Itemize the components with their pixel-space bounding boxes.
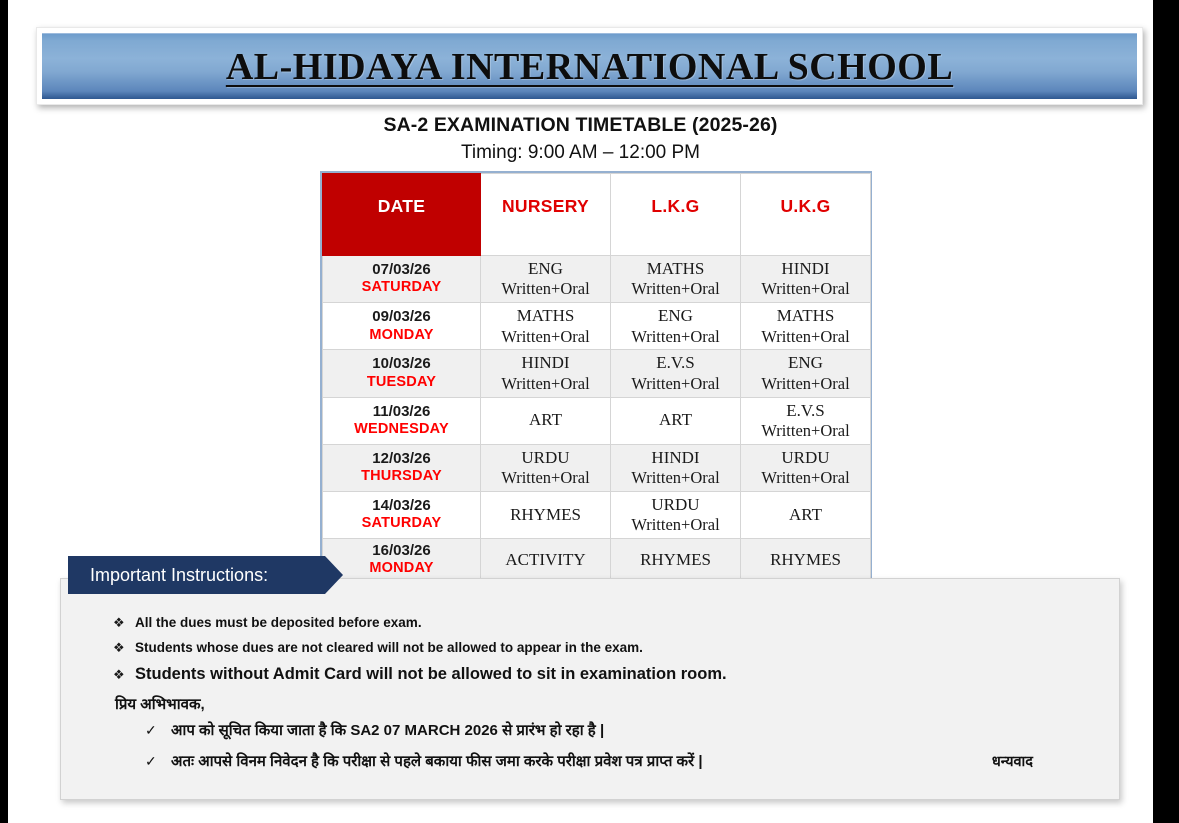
timetable-subject-cell-lkg: MATHSWritten+Oral — [611, 256, 741, 303]
timetable-subject-cell-ukg: ENGWritten+Oral — [741, 350, 871, 397]
timetable-subject-cell-lkg: ART — [611, 397, 741, 444]
timetable-row: 14/03/26SATURDAYRHYMESURDUWritten+OralAR… — [323, 491, 871, 538]
exam-date: 14/03/26 — [323, 497, 480, 515]
subject-name: RHYMES — [741, 550, 870, 570]
hindi-check-list: ✓आप को सूचित किया जाता है कि SA2 07 MARC… — [87, 720, 1093, 771]
timetable-subject-cell-ukg: RHYMES — [741, 539, 871, 582]
exam-day: TUESDAY — [323, 374, 480, 392]
subject-name: ENG — [481, 259, 610, 279]
instruction-text: Students without Admit Card will not be … — [135, 665, 727, 684]
column-header-nursery: NURSERY — [481, 174, 611, 256]
exam-date: 12/03/26 — [323, 450, 480, 468]
timetable-subject-cell-nursery: ART — [481, 397, 611, 444]
subject-mode: Written+Oral — [741, 468, 870, 488]
important-instructions-tab: Important Instructions: — [68, 556, 343, 594]
subject-name: ACTIVITY — [481, 550, 610, 570]
exam-date: 07/03/26 — [323, 261, 480, 279]
subject-name: HINDI — [741, 259, 870, 279]
timetable-subject-cell-nursery: RHYMES — [481, 491, 611, 538]
timetable-subject-cell-lkg: E.V.SWritten+Oral — [611, 350, 741, 397]
diamond-bullet-icon: ❖ — [113, 640, 135, 656]
subject-name: RHYMES — [481, 505, 610, 525]
timetable: DATE NURSERY L.K.G U.K.G 07/03/26SATURDA… — [320, 171, 872, 584]
exam-timing: Timing: 9:00 AM – 12:00 PM — [8, 139, 1153, 167]
subject-name: URDU — [481, 448, 610, 468]
timetable-subject-cell-lkg: RHYMES — [611, 539, 741, 582]
timetable-row: 10/03/26TUESDAYHINDIWritten+OralE.V.SWri… — [323, 350, 871, 397]
diamond-bullet-icon: ❖ — [113, 667, 135, 683]
subject-mode: Written+Oral — [741, 374, 870, 394]
instructions-bullet-list: ❖All the dues must be deposited before e… — [87, 615, 1093, 684]
exam-day: MONDAY — [323, 327, 480, 345]
exam-day: SATURDAY — [323, 279, 480, 297]
instruction-item: ❖All the dues must be deposited before e… — [113, 615, 1093, 631]
exam-day: SATURDAY — [323, 515, 480, 533]
timetable-body: 07/03/26SATURDAYENGWritten+OralMATHSWrit… — [323, 256, 871, 582]
subject-mode: Written+Oral — [741, 279, 870, 299]
banner-gradient: AL-HIDAYA INTERNATIONAL SCHOOL — [42, 33, 1137, 99]
timetable-subject-cell-nursery: HINDIWritten+Oral — [481, 350, 611, 397]
subject-name: ENG — [741, 353, 870, 373]
exam-date: 11/03/26 — [323, 403, 480, 421]
hindi-instruction-item: ✓अतः आपसे विनम निवेदन है कि परीक्षा से प… — [145, 751, 1093, 771]
subject-name: HINDI — [611, 448, 740, 468]
subject-name: MATHS — [611, 259, 740, 279]
timetable-subject-cell-ukg: URDUWritten+Oral — [741, 444, 871, 491]
timetable-row: 16/03/26MONDAYACTIVITYRHYMESRHYMES — [323, 539, 871, 582]
column-header-lkg: L.K.G — [611, 174, 741, 256]
timetable-subject-cell-lkg: URDUWritten+Oral — [611, 491, 741, 538]
subject-mode: Written+Oral — [481, 327, 610, 347]
important-instructions-label: Important Instructions: — [90, 565, 268, 586]
instruction-text: Students whose dues are not cleared will… — [135, 640, 643, 655]
subject-mode: Written+Oral — [611, 468, 740, 488]
subject-name: E.V.S — [741, 401, 870, 421]
exam-subtitle-group: SA-2 EXAMINATION TIMETABLE (2025-26) Tim… — [8, 112, 1153, 167]
timetable-date-cell: 09/03/26MONDAY — [323, 303, 481, 350]
timetable-subject-cell-lkg: ENGWritten+Oral — [611, 303, 741, 350]
subject-name: ART — [611, 410, 740, 430]
timetable-date-cell: 07/03/26SATURDAY — [323, 256, 481, 303]
timetable-date-cell: 10/03/26TUESDAY — [323, 350, 481, 397]
subject-name: E.V.S — [611, 353, 740, 373]
school-title-banner: AL-HIDAYA INTERNATIONAL SCHOOL — [36, 27, 1143, 105]
page-edge-left — [0, 0, 8, 823]
instruction-item: ❖Students whose dues are not cleared wil… — [113, 640, 1093, 656]
exam-title: SA-2 EXAMINATION TIMETABLE (2025-26) — [8, 112, 1153, 138]
timetable-date-cell: 16/03/26MONDAY — [323, 539, 481, 582]
timetable-row: 11/03/26WEDNESDAYARTARTE.V.SWritten+Oral — [323, 397, 871, 444]
subject-mode: Written+Oral — [481, 279, 610, 299]
subject-name: ART — [741, 505, 870, 525]
check-bullet-icon: ✓ — [145, 753, 171, 770]
timetable-row: 12/03/26THURSDAYURDUWritten+OralHINDIWri… — [323, 444, 871, 491]
check-bullet-icon: ✓ — [145, 722, 171, 739]
timetable-subject-cell-ukg: ART — [741, 491, 871, 538]
subject-mode: Written+Oral — [611, 327, 740, 347]
subject-mode: Written+Oral — [611, 374, 740, 394]
column-header-date: DATE — [323, 174, 481, 256]
subject-name: URDU — [741, 448, 870, 468]
timetable-subject-cell-nursery: URDUWritten+Oral — [481, 444, 611, 491]
diamond-bullet-icon: ❖ — [113, 615, 135, 631]
subject-name: MATHS — [481, 306, 610, 326]
timetable-date-cell: 14/03/26SATURDAY — [323, 491, 481, 538]
subject-mode: Written+Oral — [611, 515, 740, 535]
page-edge-right — [1153, 0, 1179, 823]
timetable-subject-cell-nursery: MATHSWritten+Oral — [481, 303, 611, 350]
exam-date: 10/03/26 — [323, 355, 480, 373]
instructions-panel: ❖All the dues must be deposited before e… — [60, 578, 1120, 800]
subject-name: HINDI — [481, 353, 610, 373]
notice-page: AL-HIDAYA INTERNATIONAL SCHOOL SA-2 EXAM… — [8, 0, 1153, 823]
timetable-header-row: DATE NURSERY L.K.G U.K.G — [323, 174, 871, 256]
subject-name: URDU — [611, 495, 740, 515]
subject-name: ART — [481, 410, 610, 430]
hindi-instruction-item: ✓आप को सूचित किया जाता है कि SA2 07 MARC… — [145, 720, 1093, 740]
timetable-subject-cell-ukg: HINDIWritten+Oral — [741, 256, 871, 303]
hindi-greeting: प्रिय अभिभावक, — [115, 694, 1093, 714]
subject-mode: Written+Oral — [741, 421, 870, 441]
subject-mode: Written+Oral — [741, 327, 870, 347]
timetable-subject-cell-nursery: ACTIVITY — [481, 539, 611, 582]
subject-name: ENG — [611, 306, 740, 326]
timetable-row: 09/03/26MONDAYMATHSWritten+OralENGWritte… — [323, 303, 871, 350]
hindi-instruction-text: आप को सूचित किया जाता है कि SA2 07 MARCH… — [171, 720, 1093, 740]
exam-day: WEDNESDAY — [323, 421, 480, 439]
exam-date: 09/03/26 — [323, 308, 480, 326]
column-header-ukg: U.K.G — [741, 174, 871, 256]
subject-name: MATHS — [741, 306, 870, 326]
timetable-subject-cell-lkg: HINDIWritten+Oral — [611, 444, 741, 491]
exam-date: 16/03/26 — [323, 542, 480, 560]
subject-mode: Written+Oral — [481, 468, 610, 488]
thanks-note: धन्यवाद — [992, 751, 1033, 771]
timetable-subject-cell-ukg: MATHSWritten+Oral — [741, 303, 871, 350]
instruction-item: ❖Students without Admit Card will not be… — [113, 665, 1093, 684]
timetable-date-cell: 11/03/26WEDNESDAY — [323, 397, 481, 444]
instruction-text: All the dues must be deposited before ex… — [135, 615, 422, 630]
subject-name: RHYMES — [611, 550, 740, 570]
subject-mode: Written+Oral — [611, 279, 740, 299]
timetable-date-cell: 12/03/26THURSDAY — [323, 444, 481, 491]
exam-day: MONDAY — [323, 560, 480, 578]
school-name: AL-HIDAYA INTERNATIONAL SCHOOL — [226, 45, 953, 89]
hindi-instruction-text: अतः आपसे विनम निवेदन है कि परीक्षा से पह… — [171, 751, 968, 771]
exam-day: THURSDAY — [323, 468, 480, 486]
timetable-row: 07/03/26SATURDAYENGWritten+OralMATHSWrit… — [323, 256, 871, 303]
subject-mode: Written+Oral — [481, 374, 610, 394]
timetable-subject-cell-ukg: E.V.SWritten+Oral — [741, 397, 871, 444]
timetable-subject-cell-nursery: ENGWritten+Oral — [481, 256, 611, 303]
